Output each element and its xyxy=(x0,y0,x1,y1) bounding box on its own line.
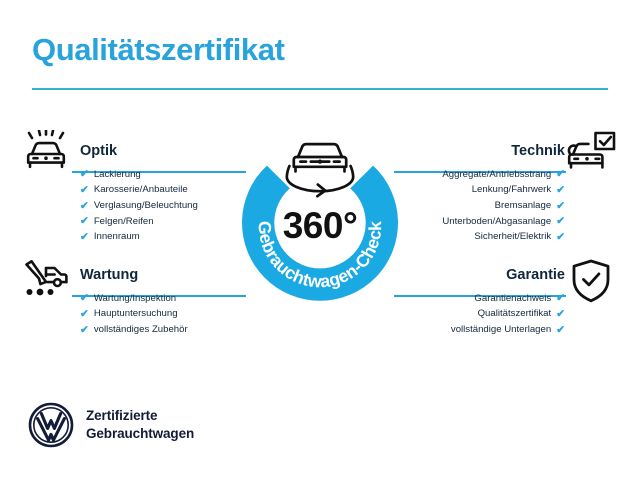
list-item: ✔ vollständige Unterlagen xyxy=(395,322,565,338)
check-icon: ✔ xyxy=(556,185,565,196)
list-item-label: Bremsanlage xyxy=(495,198,552,214)
check-icon: ✔ xyxy=(556,293,565,304)
list-item-label: Karosserie/Anbauteile xyxy=(94,182,188,198)
list-item-label: Innenraum xyxy=(94,229,140,245)
check-icon: ✔ xyxy=(80,309,89,320)
check-icon: ✔ xyxy=(80,293,89,304)
list-item: ✔ Hauptuntersuchung xyxy=(80,306,248,322)
list-item: ✔ Unterboden/Abgasanlage xyxy=(395,214,565,230)
list-item-label: Felgen/Reifen xyxy=(94,214,154,230)
car-shine-icon xyxy=(22,130,70,177)
list-item-label: Qualitätszertifikat xyxy=(478,306,552,322)
certificate-page: Qualitätszertifikat xyxy=(0,0,640,480)
check-icon: ✔ xyxy=(556,309,565,320)
car-checkbox-icon xyxy=(567,131,617,178)
check-icon: ✔ xyxy=(556,232,565,243)
list-item-label: Garantienachweis xyxy=(474,291,551,307)
list-item-label: Hauptuntersuchung xyxy=(94,306,178,322)
page-title: Qualitätszertifikat xyxy=(32,32,285,68)
list-item-label: Aggregate/Antriebsstrang xyxy=(442,167,551,183)
section-technik: Technik ✔ Aggregate/Antriebsstrang ✔ Len… xyxy=(395,144,565,245)
vw-footer-text: Zertifizierte Gebrauchtwagen xyxy=(86,407,194,443)
list-item-label: Wartung/Inspektion xyxy=(94,291,176,307)
check-icon: ✔ xyxy=(80,201,89,212)
check-icon: ✔ xyxy=(556,201,565,212)
check-icon: ✔ xyxy=(80,232,89,243)
vw-logo xyxy=(28,402,74,448)
list-item-label: Verglasung/Beleuchtung xyxy=(94,198,198,214)
badge-center-label: 360° xyxy=(283,205,358,246)
list-item: ✔ Bremsanlage xyxy=(395,198,565,214)
list-item: ✔ Aggregate/Antriebsstrang xyxy=(395,167,565,183)
list-item-label: vollständiges Zubehör xyxy=(94,322,188,338)
shield-check-icon xyxy=(570,258,612,309)
check-icon: ✔ xyxy=(556,169,565,180)
list-item: ✔ Sicherheit/Elektrik xyxy=(395,229,565,245)
pen-car-service-icon xyxy=(20,258,70,307)
check-icon: ✔ xyxy=(80,185,89,196)
list-item: ✔ Garantienachweis xyxy=(395,291,565,307)
list-item-label: Sicherheit/Elektrik xyxy=(474,229,551,245)
list-item-label: Lackierung xyxy=(94,167,141,183)
check-icon: ✔ xyxy=(556,325,565,336)
list-item: ✔ vollständiges Zubehör xyxy=(80,322,248,338)
section-items-technik: ✔ Aggregate/Antriebsstrang ✔ Lenkung/Fah… xyxy=(395,167,565,245)
section-garantie: Garantie ✔ Garantienachweis ✔ Qualitätsz… xyxy=(395,268,565,338)
title-divider xyxy=(32,88,608,90)
check-icon: ✔ xyxy=(556,216,565,227)
section-items-garantie: ✔ Garantienachweis ✔ Qualitätszertifikat… xyxy=(395,291,565,338)
list-item-label: vollständige Unterlagen xyxy=(451,322,551,338)
vw-footer-logo-block: Zertifizierte Gebrauchtwagen xyxy=(28,402,194,448)
check-icon: ✔ xyxy=(80,216,89,227)
check-icon: ✔ xyxy=(80,169,89,180)
list-item: ✔ Qualitätszertifikat xyxy=(395,306,565,322)
section-heading-garantie: Garantie xyxy=(395,268,565,284)
badge-360-gebrauchtwagen-check: Gebrauchtwagen-Check 360° xyxy=(222,108,418,304)
list-item-label: Unterboden/Abgasanlage xyxy=(442,214,551,230)
section-heading-technik: Technik xyxy=(395,144,565,160)
list-item: ✔ Lenkung/Fahrwerk xyxy=(395,182,565,198)
list-item-label: Lenkung/Fahrwerk xyxy=(472,182,551,198)
check-icon: ✔ xyxy=(80,325,89,336)
